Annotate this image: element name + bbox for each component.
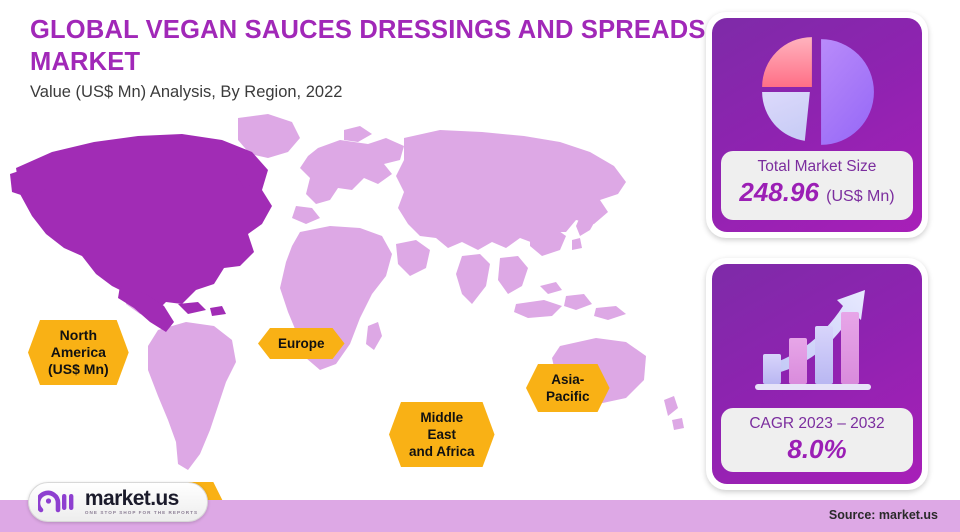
region-tag-line2: East — [428, 427, 457, 442]
pie-chart-icon — [722, 28, 912, 151]
market-size-label: Total Market Size — [725, 157, 909, 176]
market-us-logo-icon — [38, 489, 78, 515]
region-tag-line3: and Africa — [409, 444, 475, 459]
region-tag-asia-pacific[interactable]: Asia- Pacific — [526, 364, 610, 412]
infographic-page: GLOBAL VEGAN SAUCES DRESSINGS AND SPREAD… — [0, 0, 960, 532]
total-market-size-card: Total Market Size 248.96 (US$ Mn) — [706, 12, 928, 238]
page-title: GLOBAL VEGAN SAUCES DRESSINGS AND SPREAD… — [30, 14, 720, 78]
cagr-plate: CAGR 2023 – 2032 8.0% — [721, 408, 913, 472]
cagr-value: 8.0% — [725, 434, 909, 464]
market-size-unit: (US$ Mn) — [826, 188, 894, 205]
cagr-label: CAGR 2023 – 2032 — [725, 414, 909, 433]
growth-bar-chart-icon — [722, 274, 912, 408]
page-subtitle: Value (US$ Mn) Analysis, By Region, 2022 — [30, 82, 720, 103]
market-size-plate: Total Market Size 248.96 (US$ Mn) — [721, 151, 913, 220]
world-map-graphic — [0, 108, 700, 478]
logo-tagline: ONE STOP SHOP FOR THE REPORTS — [85, 511, 198, 516]
logo-wordmark: market.us — [85, 488, 198, 509]
region-tag-line1: Europe — [278, 336, 325, 351]
region-tag-line3: (US$ Mn) — [48, 361, 109, 377]
region-tag-line2: America — [51, 344, 106, 360]
market-size-value-row: 248.96 (US$ Mn) — [725, 177, 909, 212]
cagr-card: CAGR 2023 – 2032 8.0% — [706, 258, 928, 490]
region-tag-line1: North — [60, 327, 97, 343]
card-body: Total Market Size 248.96 (US$ Mn) — [712, 18, 922, 232]
world-map-container: North America (US$ Mn) Europe South Amer… — [0, 108, 700, 478]
market-size-value: 248.96 — [739, 177, 819, 207]
source-note: Source: market.us — [829, 508, 938, 522]
region-tag-line2: Pacific — [546, 389, 590, 404]
region-tag-line1: Asia- — [551, 372, 584, 387]
region-tag-europe[interactable]: Europe — [258, 328, 345, 359]
header: GLOBAL VEGAN SAUCES DRESSINGS AND SPREAD… — [30, 14, 720, 103]
map-highlight-north-america — [10, 134, 272, 332]
region-tag-line1: Middle — [420, 410, 463, 425]
brand-logo[interactable]: market.us ONE STOP SHOP FOR THE REPORTS — [28, 482, 208, 522]
region-tag-north-america[interactable]: North America (US$ Mn) — [28, 320, 129, 385]
region-tag-middle-east-and-africa[interactable]: Middle East and Africa — [389, 402, 495, 467]
card-body: CAGR 2023 – 2032 8.0% — [712, 264, 922, 484]
logo-text: market.us ONE STOP SHOP FOR THE REPORTS — [85, 488, 198, 516]
